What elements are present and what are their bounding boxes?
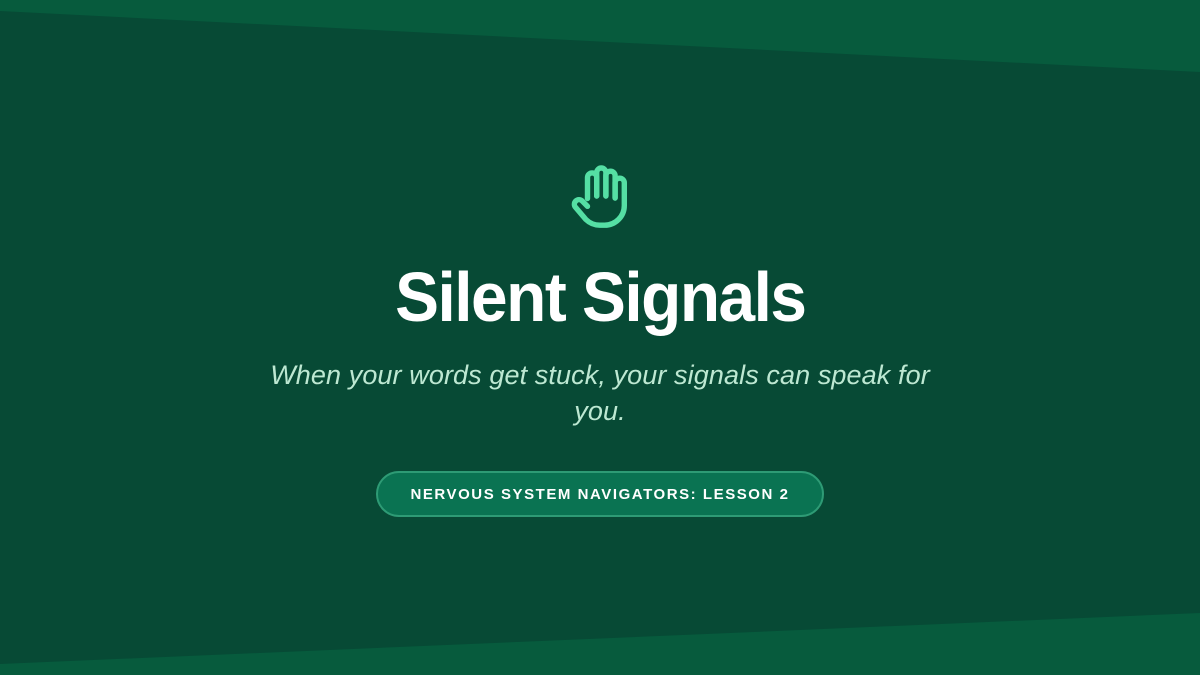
slide-canvas: Silent Signals When your words get stuck… bbox=[0, 0, 1200, 675]
subtitle-text: When your words get stuck, your signals … bbox=[270, 358, 930, 429]
page-title: Silent Signals bbox=[395, 262, 805, 332]
lesson-badge: Nervous System Navigators: Lesson 2 bbox=[376, 471, 823, 517]
raised-hand-icon bbox=[562, 158, 638, 234]
slide-content: Silent Signals When your words get stuck… bbox=[0, 0, 1200, 675]
